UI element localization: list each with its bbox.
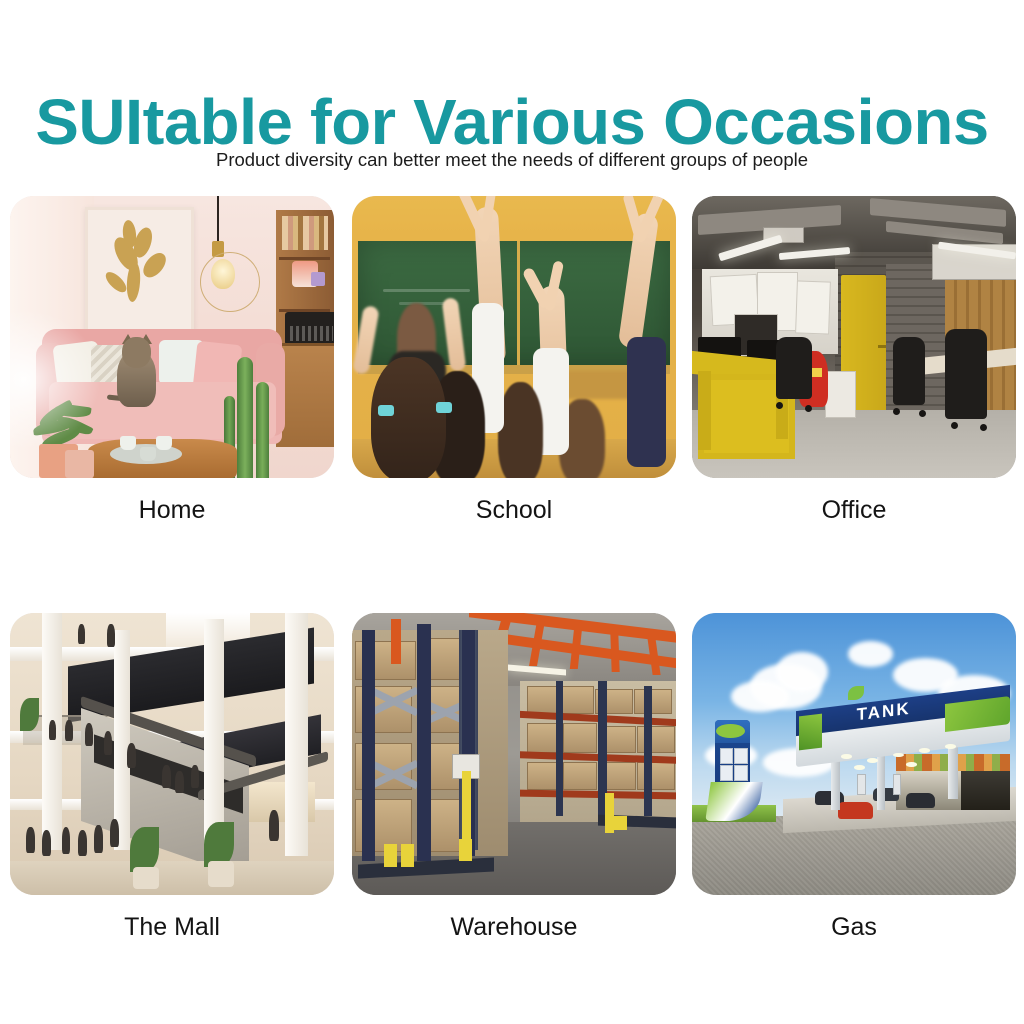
light-bulb — [211, 259, 235, 289]
cat-head — [122, 337, 151, 368]
shopper — [62, 827, 70, 854]
price-panel — [720, 748, 734, 764]
shopper — [94, 825, 102, 853]
price-panel — [734, 748, 748, 764]
window-glow — [10, 309, 101, 450]
safety-marker — [459, 839, 472, 862]
red-upright — [391, 619, 401, 664]
planter-foliage — [204, 822, 233, 867]
occasions-gallery: Home — [0, 0, 1024, 1024]
rack-frame — [362, 630, 375, 861]
student-head — [498, 382, 543, 478]
car — [906, 793, 935, 807]
gallery-item-warehouse[interactable]: Warehouse — [352, 613, 676, 895]
mall-scene — [10, 613, 334, 895]
safety-marker — [401, 844, 414, 867]
cup — [140, 447, 156, 461]
shopper — [127, 743, 136, 768]
home-image — [10, 196, 334, 478]
student-head — [371, 357, 446, 478]
gallery-item-school[interactable]: School — [352, 196, 676, 478]
gallery-item-label-mall: The Mall — [10, 913, 334, 942]
gas-image: TANK — [692, 613, 1016, 895]
column — [285, 613, 308, 856]
paper-sheet — [795, 280, 831, 334]
safety-marker — [384, 844, 397, 867]
small-pot — [311, 272, 325, 286]
warehouse-image — [352, 613, 676, 895]
cactus-art-frame — [85, 207, 195, 331]
shopper — [107, 624, 115, 647]
shopper — [42, 830, 51, 855]
cactus-plant — [237, 357, 253, 478]
canopy-green-accent — [799, 713, 822, 750]
cloud — [848, 641, 893, 666]
promo-banner: SUItable for Various Occasions Product d… — [0, 0, 1024, 1024]
gallery-item-label-gas: Gas — [692, 913, 1016, 942]
home-scene — [10, 196, 334, 478]
typewriter — [285, 312, 334, 346]
fuel-pump — [893, 774, 901, 796]
cloud — [776, 652, 828, 691]
office-scene — [692, 196, 1016, 478]
shopper — [104, 731, 112, 755]
rack-upright — [556, 681, 562, 816]
shopper — [78, 830, 87, 855]
planter-base — [133, 867, 159, 890]
price-panel — [734, 765, 748, 781]
office-chair — [945, 329, 987, 419]
mall-image — [10, 613, 334, 895]
car — [838, 802, 874, 819]
gallery-item-label-warehouse: Warehouse — [352, 913, 676, 942]
planter — [65, 450, 94, 478]
column — [114, 630, 130, 850]
shopper — [110, 819, 118, 847]
shopper — [49, 720, 56, 740]
office-chair — [776, 337, 812, 399]
gas-scene: TANK — [692, 613, 1016, 895]
cup — [120, 436, 136, 450]
cactus-plant — [256, 382, 269, 478]
gallery-item-gas[interactable]: TANK Gas — [692, 613, 1016, 895]
safety-marker — [462, 771, 470, 839]
safety-marker — [611, 816, 627, 830]
gallery-item-office[interactable]: Office — [692, 196, 1016, 478]
shopper — [191, 765, 199, 788]
shopper — [26, 827, 34, 852]
rack-upright — [644, 686, 652, 816]
shopper — [162, 765, 170, 788]
office-chair — [893, 337, 925, 405]
hair-tie — [378, 405, 394, 416]
warehouse-scene — [352, 613, 676, 895]
shopper — [78, 624, 85, 644]
cabinet — [825, 371, 856, 418]
planter-base — [208, 861, 234, 886]
shopper — [65, 720, 73, 741]
pendant-cord — [217, 196, 219, 244]
cloud — [731, 681, 789, 712]
service-bay — [961, 771, 1010, 810]
office-image — [692, 196, 1016, 478]
cup — [156, 436, 172, 450]
desk-leg — [698, 371, 711, 450]
price-panel — [720, 765, 734, 781]
gallery-item-label-home: Home — [10, 496, 334, 525]
school-scene — [352, 196, 676, 478]
shopper — [175, 771, 183, 794]
gallery-item-home[interactable]: Home — [10, 196, 334, 478]
gallery-item-label-school: School — [352, 496, 676, 525]
school-image — [352, 196, 676, 478]
student-sleeve — [627, 337, 666, 467]
hair-tie — [436, 402, 452, 413]
fuel-pump — [857, 774, 865, 796]
ground-floor — [10, 861, 334, 895]
books — [282, 216, 327, 250]
shopper — [269, 810, 279, 841]
gallery-item-label-office: Office — [692, 496, 1016, 525]
gallery-item-mall[interactable]: The Mall — [10, 613, 334, 895]
truss-brace — [610, 633, 620, 672]
rack-frame — [417, 624, 432, 861]
shopper — [85, 723, 93, 746]
column — [204, 619, 223, 856]
